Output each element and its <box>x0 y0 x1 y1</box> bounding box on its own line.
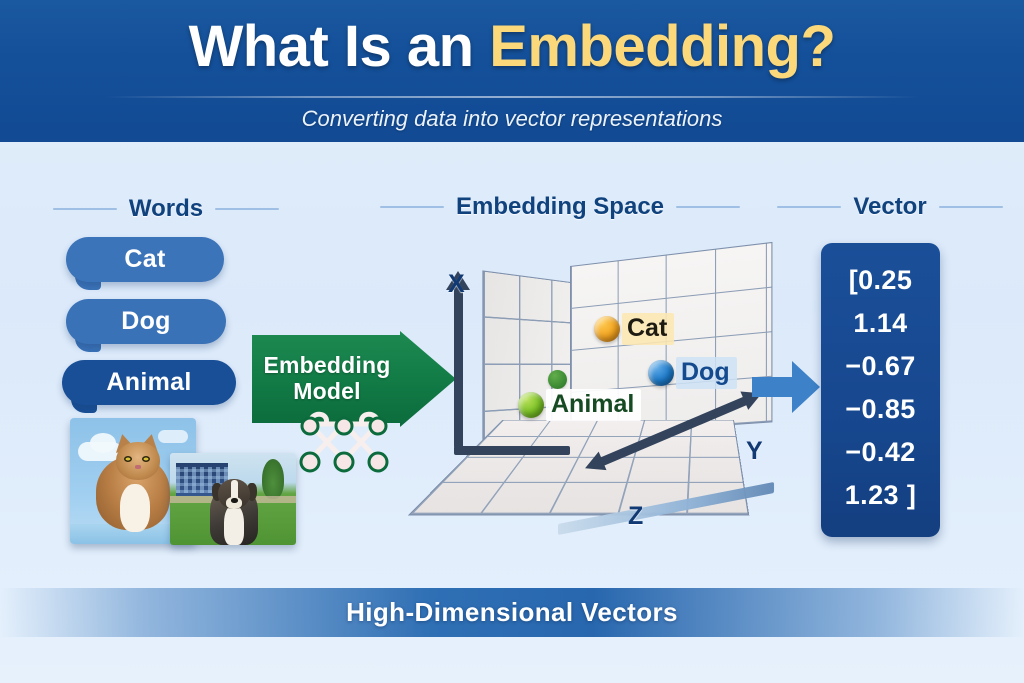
page-title: What Is an Embedding? <box>0 13 1024 80</box>
dog-photo <box>170 453 296 545</box>
heading-rule-left <box>380 206 444 208</box>
heading-rule-left <box>777 206 841 208</box>
vector-panel: [0.25 1.14 −0.67 −0.85 −0.42 1.23 ] <box>821 243 940 537</box>
page-title-accent: Embedding? <box>489 14 835 79</box>
dog-nose <box>231 498 238 503</box>
data-point-dog-dot <box>648 360 674 386</box>
data-point-dog-label: Dog <box>676 357 737 389</box>
axis-label-z: Z <box>628 502 643 531</box>
word-bubble-dog-label: Dog <box>121 307 171 336</box>
section-heading-vector: Vector <box>770 193 1010 221</box>
word-bubble-animal: Animal <box>62 360 236 405</box>
section-heading-words: Words <box>16 195 316 223</box>
tree-shape <box>262 459 284 499</box>
section-heading-vector-label: Vector <box>853 193 926 221</box>
word-bubble-animal-label: Animal <box>106 368 191 397</box>
cat-eye-left <box>124 456 132 462</box>
axis-label-x: X <box>448 270 465 299</box>
embedding-model-line1: Embedding <box>263 352 390 378</box>
dog-chest <box>224 505 244 545</box>
footer-label: High-Dimensional Vectors <box>346 597 678 628</box>
section-heading-space-label: Embedding Space <box>456 193 664 221</box>
axis-label-y: Y <box>746 437 763 466</box>
axis-x-arrow <box>454 288 463 448</box>
heading-rule-right <box>939 206 1003 208</box>
page-title-main: What Is an <box>189 14 490 79</box>
section-heading-words-label: Words <box>129 195 203 223</box>
data-point-cat-label: Cat <box>622 313 674 345</box>
word-bubble-cat: Cat <box>66 237 224 282</box>
data-point-animal-dot <box>518 392 544 418</box>
data-point-cat: Cat <box>594 313 674 345</box>
heading-rule-right <box>215 208 279 210</box>
cat-nose <box>135 465 141 469</box>
heading-rule-right <box>676 206 740 208</box>
data-point-animal-secondary <box>548 370 567 389</box>
heading-rule-left <box>53 208 117 210</box>
vector-row: −0.85 <box>821 388 940 431</box>
page-subtitle: Converting data into vector representati… <box>0 106 1024 132</box>
word-bubble-dog: Dog <box>66 299 226 344</box>
cat-head <box>116 442 160 480</box>
footer-banner: High-Dimensional Vectors <box>0 588 1024 637</box>
vector-row: 1.23 ] <box>821 474 940 517</box>
word-bubble-cat-label: Cat <box>124 245 165 274</box>
data-point-dog: Dog <box>648 357 737 389</box>
embedding-space-plot: X Y Z Cat Dog Animal <box>430 250 780 550</box>
vector-row: 1.14 <box>821 302 940 345</box>
embedding-model-label: Embedding Model <box>252 353 402 405</box>
header-banner: What Is an Embedding? Converting data in… <box>0 0 1024 142</box>
vector-row: −0.67 <box>821 345 940 388</box>
section-heading-embedding-space: Embedding Space <box>380 193 740 221</box>
cat-eye-right <box>142 456 150 462</box>
vector-row: [0.25 <box>821 259 940 302</box>
cloud-shape <box>158 430 188 443</box>
neural-network-icon <box>296 404 392 482</box>
data-point-cat-dot <box>594 316 620 342</box>
header-divider <box>104 96 920 98</box>
data-point-animal-label: Animal <box>546 389 641 421</box>
data-point-animal: Animal <box>518 389 641 421</box>
cat-chest <box>120 484 150 532</box>
vector-row: −0.42 <box>821 431 940 474</box>
embedding-model-line2: Model <box>293 378 360 404</box>
